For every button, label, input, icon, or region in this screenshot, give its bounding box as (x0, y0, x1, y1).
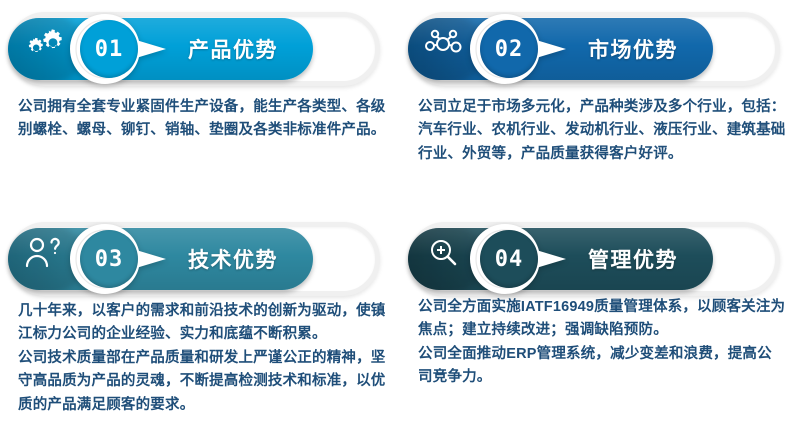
card-title-01: 产品优势 (188, 12, 278, 86)
number-label: 02 (495, 37, 524, 62)
card-title-04: 管理优势 (588, 222, 678, 296)
banner-01[interactable]: 01 产品优势 (8, 12, 380, 86)
number-label: 01 (95, 37, 124, 62)
card-body-02: 公司立足于市场多元化，产品种类涉及多个行业，包括：汽车行业、农机行业、发动机行业… (418, 96, 786, 166)
card-03: 03 技术优势 几十年来，以客户的需求和前沿技术的创新为驱动，使镇江标力公司的企… (0, 210, 400, 448)
card-01: 01 产品优势 公司拥有全套专业紧固件生产设备，能生产各类型、各级别螺栓、螺母、… (0, 0, 400, 210)
advantages-grid: 01 产品优势 公司拥有全套专业紧固件生产设备，能生产各类型、各级别螺栓、螺母、… (0, 0, 800, 448)
card-body-01: 公司拥有全套专业紧固件生产设备，能生产各类型、各级别螺栓、螺母、铆钉、销轴、垫圈… (18, 96, 386, 143)
person-question-icon (22, 236, 66, 270)
gears-icon (22, 26, 66, 60)
card-body-04: 公司全方面实施IATF16949质量管理体系，以顾客关注为焦点；建立持续改进；强… (418, 296, 786, 390)
number-badge-03: 03 (80, 230, 138, 288)
number-label: 03 (95, 247, 124, 272)
number-badge-04: 04 (480, 230, 538, 288)
banner-03[interactable]: 03 技术优势 (8, 222, 380, 296)
zoom-in-magnifier-icon (422, 236, 466, 270)
card-title-03: 技术优势 (188, 222, 278, 296)
number-badge-01: 01 (80, 20, 138, 78)
number-label: 04 (495, 247, 524, 272)
banner-02[interactable]: 02 市场优势 (408, 12, 780, 86)
card-title-02: 市场优势 (588, 12, 678, 86)
card-04: 04 管理优势 公司全方面实施IATF16949质量管理体系，以顾客关注为焦点；… (400, 210, 800, 448)
card-02: 02 市场优势 公司立足于市场多元化，产品种类涉及多个行业，包括：汽车行业、农机… (400, 0, 800, 210)
number-badge-02: 02 (480, 20, 538, 78)
banner-04[interactable]: 04 管理优势 (408, 222, 780, 296)
card-body-03: 几十年来，以客户的需求和前沿技术的创新为驱动，使镇江标力公司的企业经验、实力和底… (18, 300, 386, 417)
network-nodes-icon (422, 26, 466, 60)
